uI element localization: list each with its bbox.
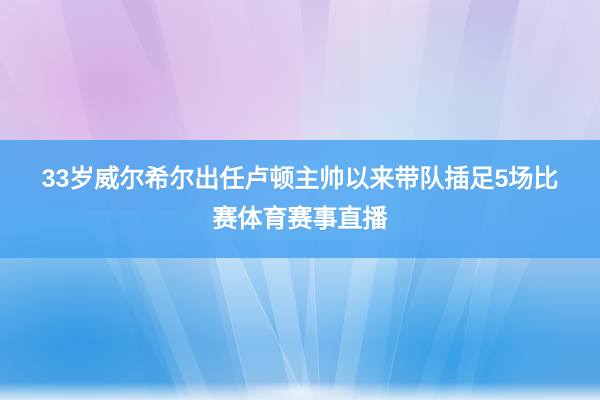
bottom-fade xyxy=(0,382,600,400)
title-line-1: 33岁威尔希尔出任卢顿主帅以来带队插足5场比 xyxy=(42,159,559,199)
watermark-smudge xyxy=(240,382,360,398)
title-line-2: 赛体育赛事直播 xyxy=(212,199,387,239)
pink-haze-overlay-2 xyxy=(180,0,500,160)
blue-pool-right xyxy=(330,255,560,400)
banner-card: 33岁威尔希尔出任卢顿主帅以来带队插足5场比 赛体育赛事直播 xyxy=(0,0,600,400)
title-band: 33岁威尔希尔出任卢顿主帅以来带队插足5场比 赛体育赛事直播 xyxy=(0,140,600,258)
